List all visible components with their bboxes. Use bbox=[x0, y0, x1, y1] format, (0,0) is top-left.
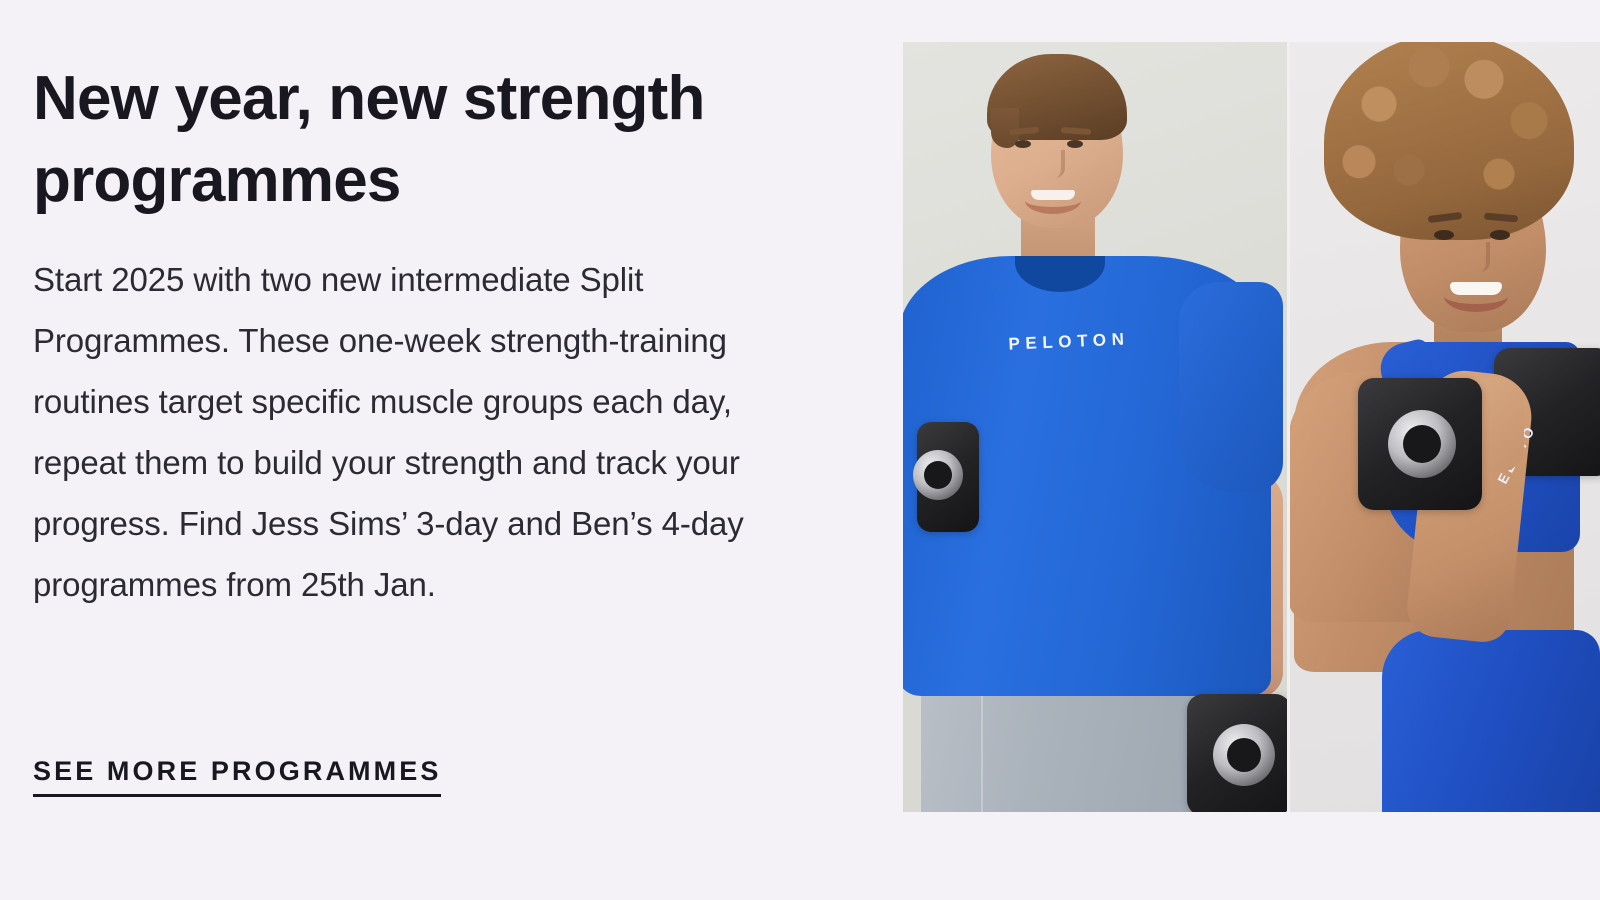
hair bbox=[987, 54, 1127, 140]
eye-right bbox=[1067, 140, 1083, 148]
dumbbell-disc bbox=[913, 450, 963, 500]
photo-seam-divider bbox=[1287, 42, 1290, 812]
eye-left bbox=[1434, 230, 1454, 240]
see-more-programmes-link[interactable]: SEE MORE PROGRAMMES bbox=[33, 754, 441, 797]
eye-right bbox=[1490, 230, 1510, 240]
eye-left bbox=[1015, 140, 1031, 148]
dumbbell-disc bbox=[1388, 410, 1456, 478]
tshirt-sleeve bbox=[1179, 282, 1283, 492]
copy-column: New year, new strength programmes Start … bbox=[33, 0, 833, 900]
page-title: New year, new strength programmes bbox=[33, 58, 793, 222]
nose bbox=[1470, 242, 1490, 272]
body-description: Start 2025 with two new intermediate Spl… bbox=[33, 249, 768, 615]
instructor-photo: PELOTON ELOTO bbox=[903, 42, 1600, 812]
female-instructor-figure: ELOTO bbox=[1288, 42, 1600, 812]
nose bbox=[1045, 150, 1065, 178]
dumbbell-icon bbox=[917, 422, 979, 532]
photo-panel-female: ELOTO bbox=[1288, 42, 1600, 812]
male-instructor-figure: PELOTON bbox=[903, 42, 1288, 812]
photo-panel-male: PELOTON bbox=[903, 42, 1288, 812]
curly-hair bbox=[1324, 42, 1574, 240]
blue-leggings bbox=[1382, 630, 1600, 812]
teeth bbox=[1450, 282, 1502, 295]
dumbbell-icon bbox=[1187, 694, 1288, 812]
dumbbell-icon bbox=[1358, 378, 1482, 510]
dumbbell-disc bbox=[1213, 724, 1275, 786]
promo-banner: New year, new strength programmes Start … bbox=[0, 0, 1600, 900]
teeth bbox=[1031, 190, 1075, 200]
